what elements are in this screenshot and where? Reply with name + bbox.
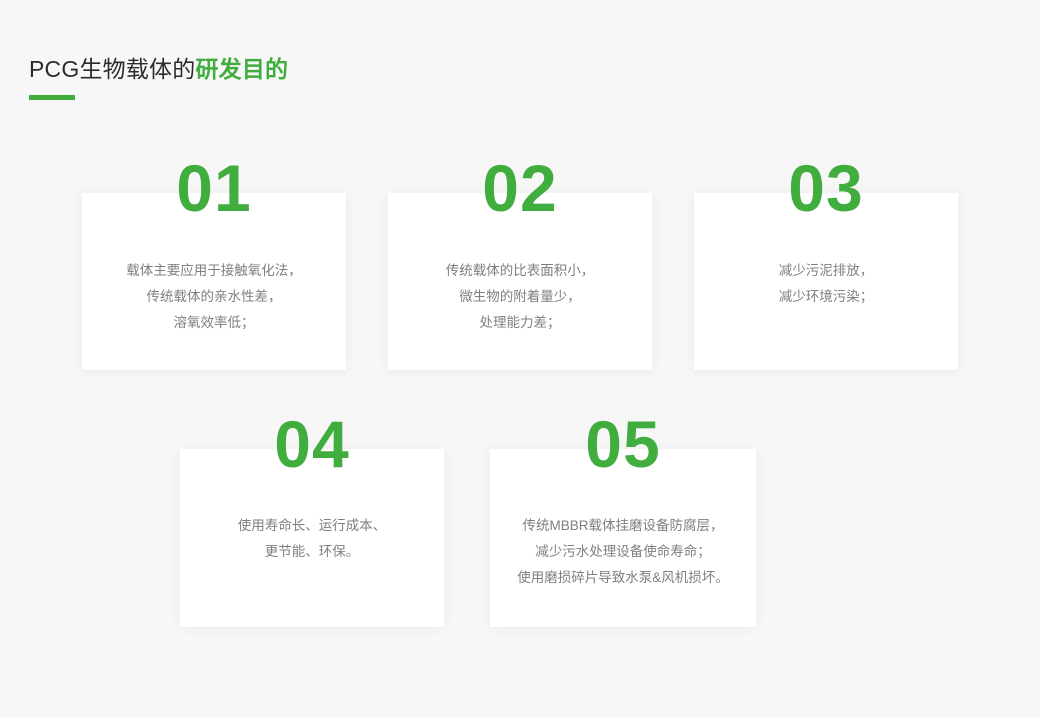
card-body-line: 传统载体的比表面积小， [388,258,652,284]
card-body-02: 传统载体的比表面积小， 微生物的附着量少， 处理能力差； [388,258,652,336]
card-body-line: 溶氧效率低； [82,310,346,336]
card-body-01: 载体主要应用于接触氧化法， 传统载体的亲水性差， 溶氧效率低； [82,258,346,336]
card-number-02: 02 [388,155,652,221]
card-body-line: 传统MBBR载体挂磨设备防腐层， [490,513,756,539]
feature-card-02: 02 传统载体的比表面积小， 微生物的附着量少， 处理能力差； [388,193,652,370]
page-title-lead: PCG生物载体的 [29,56,195,82]
slide-root: PCG生物载体的研发目的 01 载体主要应用于接触氧化法， 传统载体的亲水性差，… [0,0,1040,718]
card-body-line: 处理能力差； [388,310,652,336]
card-body-05: 传统MBBR载体挂磨设备防腐层， 减少污水处理设备使命寿命； 使用磨损碎片导致水… [490,513,756,591]
card-number-01: 01 [82,155,346,221]
card-body-line: 载体主要应用于接触氧化法， [82,258,346,284]
card-body-line: 使用寿命长、运行成本、 [180,513,444,539]
feature-card-01: 01 载体主要应用于接触氧化法， 传统载体的亲水性差， 溶氧效率低； [82,193,346,370]
title-underline-rule [29,95,75,100]
card-body-line: 减少污水处理设备使命寿命； [490,539,756,565]
card-number-04: 04 [180,411,444,477]
slide-header: PCG生物载体的研发目的 [29,52,288,100]
feature-card-04: 04 使用寿命长、运行成本、 更节能、环保。 [180,449,444,627]
card-body-line: 减少污泥排放， [694,258,958,284]
page-title: PCG生物载体的研发目的 [29,52,288,86]
card-body-line: 使用磨损碎片导致水泵&风机损坏。 [490,565,756,591]
card-number-05: 05 [490,411,756,477]
page-title-accent: 研发目的 [195,56,288,82]
feature-card-05: 05 传统MBBR载体挂磨设备防腐层， 减少污水处理设备使命寿命； 使用磨损碎片… [490,449,756,627]
card-body-04: 使用寿命长、运行成本、 更节能、环保。 [180,513,444,565]
card-body-line: 微生物的附着量少， [388,284,652,310]
card-body-line: 减少环境污染； [694,284,958,310]
card-body-line: 传统载体的亲水性差， [82,284,346,310]
card-body-03: 减少污泥排放， 减少环境污染； [694,258,958,310]
card-number-03: 03 [694,155,958,221]
feature-card-03: 03 减少污泥排放， 减少环境污染； [694,193,958,370]
card-body-line: 更节能、环保。 [180,539,444,565]
